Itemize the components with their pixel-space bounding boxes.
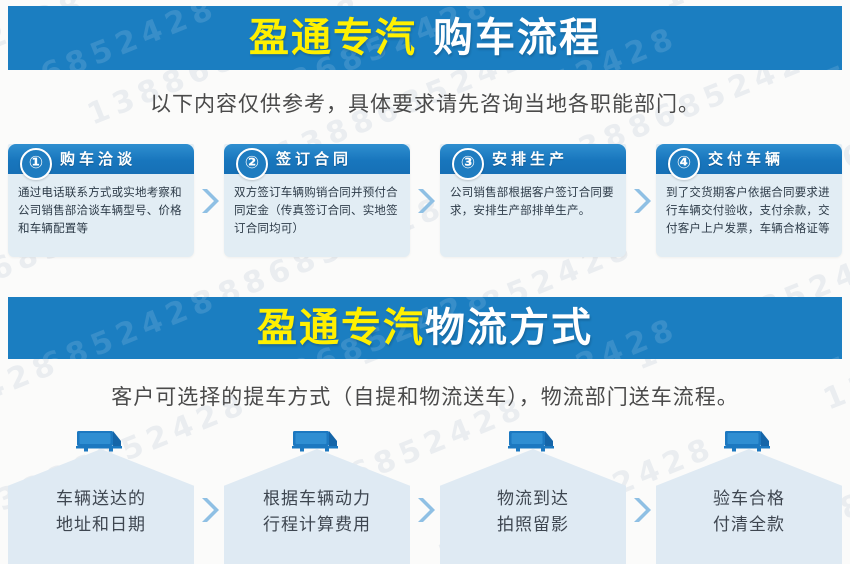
logistics-step-line1: 验车合格 (656, 486, 842, 512)
page-root: 1388685242813886852428138868524281388685… (0, 0, 850, 564)
purchase-step-header: ④ 交付车辆 (656, 144, 842, 174)
purchase-step-card[interactable]: ③ 安排生产 公司销售部根据客户签订合同要求，安排生产部排单生产。 (440, 144, 626, 257)
section2-banner-suffix: 物流方式 (425, 305, 593, 351)
logistics-step-line2: 付清全款 (656, 512, 842, 538)
step-number-badge: ④ (668, 148, 700, 180)
purchase-step-header: ③ 安排生产 (440, 144, 626, 174)
purchase-step-header: ② 签订合同 (224, 144, 410, 174)
brand-name: 盈通专汽 (249, 15, 417, 61)
step-title: 购车洽谈 (60, 144, 136, 174)
step-number-badge: ③ (452, 148, 484, 180)
section2-banner: 1388685242813886852428138868524281388685… (8, 297, 842, 359)
purchase-step-card[interactable]: ① 购车洽谈 通过电话联系方式或实地考察和公司销售部洽谈车辆型号、价格和车辆配置… (8, 144, 194, 257)
logistics-step-line1: 物流到达 (440, 486, 626, 512)
logistics-step-text: 车辆送达的 地址和日期 (8, 486, 194, 539)
chevron-right-icon (410, 144, 440, 257)
chevron-right-icon (194, 430, 224, 564)
logistics-step-text: 根据车辆动力 行程计算费用 (224, 486, 410, 539)
section1-subtitle: 以下内容仅供参考，具体要求请先咨询当地各职能部门。 (0, 88, 850, 118)
logistics-step-line1: 车辆送达的 (8, 486, 194, 512)
step-description: 通过电话联系方式或实地考察和公司销售部洽谈车辆型号、价格和车辆配置等 (8, 174, 194, 237)
logistics-step-line2: 拍照留影 (440, 512, 626, 538)
logistics-step-item[interactable]: 物流到达 拍照留影 (440, 430, 626, 564)
logistics-step-item[interactable]: 根据车辆动力 行程计算费用 (224, 430, 410, 564)
truck-icon (289, 430, 345, 456)
purchase-step-card[interactable]: ② 签订合同 双方签订车辆购销合同并预付合同定金（传真签订合同、实地签订合同均可… (224, 144, 410, 257)
logistics-step-line1: 根据车辆动力 (224, 486, 410, 512)
logistics-step-text: 物流到达 拍照留影 (440, 486, 626, 539)
chevron-right-icon (194, 144, 224, 257)
truck-icon (505, 430, 561, 456)
step-description: 公司销售部根据客户签订合同要求，安排生产部排单生产。 (440, 174, 626, 220)
logistics-step-item[interactable]: 车辆送达的 地址和日期 (8, 430, 194, 564)
step-description: 双方签订车辆购销合同并预付合同定金（传真签订合同、实地签订合同均可） (224, 174, 410, 237)
chevron-right-icon (410, 430, 440, 564)
purchase-step-card[interactable]: ④ 交付车辆 到了交货期客户依据合同要求进行车辆交付验收，支付余款，交付客户上户… (656, 144, 842, 257)
logistics-step-line2: 行程计算费用 (224, 512, 410, 538)
section1-banner-suffix: 购车流程 (417, 15, 601, 61)
section1-banner: 1388685242813886852428138868524281388685… (8, 6, 842, 70)
chevron-right-icon (626, 144, 656, 257)
logistics-step-text: 验车合格 付清全款 (656, 486, 842, 539)
truck-icon (73, 430, 129, 456)
purchase-step-header: ① 购车洽谈 (8, 144, 194, 174)
brand-name: 盈通专汽 (257, 305, 425, 351)
logistics-step-line2: 地址和日期 (8, 512, 194, 538)
step-description: 到了交货期客户依据合同要求进行车辆交付验收，支付余款，交付客户上户发票，车辆合格… (656, 174, 842, 237)
step-number-badge: ① (20, 148, 52, 180)
purchase-steps-row: ① 购车洽谈 通过电话联系方式或实地考察和公司销售部洽谈车辆型号、价格和车辆配置… (8, 144, 842, 262)
logistics-step-item[interactable]: 验车合格 付清全款 (656, 430, 842, 564)
step-number-badge: ② (236, 148, 268, 180)
step-title: 交付车辆 (708, 144, 784, 174)
step-title: 签订合同 (276, 144, 352, 174)
section1-banner-title: 盈通专汽 购车流程 (8, 6, 842, 70)
truck-icon (721, 430, 777, 456)
chevron-right-icon (626, 430, 656, 564)
step-title: 安排生产 (492, 144, 568, 174)
section2-banner-title: 盈通专汽物流方式 (8, 297, 842, 359)
section2-subtitle: 客户可选择的提车方式（自提和物流送车），物流部门送车流程。 (0, 381, 850, 411)
logistics-steps-row: 车辆送达的 地址和日期 根据车辆动力 行程计算费用 (8, 430, 842, 564)
